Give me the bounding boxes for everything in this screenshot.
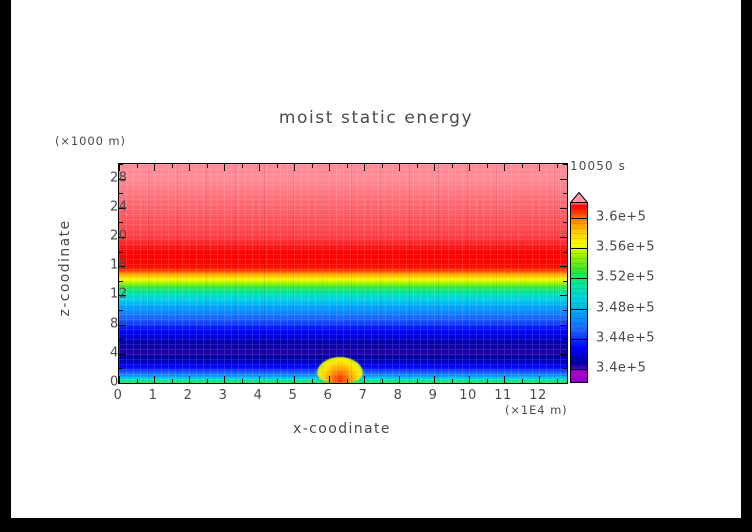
x-tick-major — [539, 376, 540, 383]
x-tick-minor-top — [137, 164, 138, 168]
x-tick-label: 0 — [114, 388, 123, 403]
x-tick-label: 5 — [289, 388, 298, 403]
x-tick-label: 8 — [394, 388, 403, 403]
x-tick-label: 10 — [459, 388, 477, 403]
x-tick-minor — [207, 379, 208, 383]
x-tick-minor — [312, 379, 313, 383]
y-tick-minor-right — [563, 164, 567, 165]
y-tick-minor-right — [563, 281, 567, 282]
x-axis-title: x-coodinate — [118, 421, 566, 437]
x-tick-label: 6 — [324, 388, 333, 403]
y-tick-major — [119, 354, 126, 355]
x-tick-minor-top — [452, 164, 453, 168]
colorbar-gradient-box — [570, 202, 588, 383]
colorbar-tick-label: 3.48e+5 — [596, 300, 655, 315]
x-tick-minor — [487, 379, 488, 383]
x-tick-minor-top — [522, 164, 523, 168]
y-tick-minor-right — [563, 252, 567, 253]
x-tick-major — [399, 376, 400, 383]
y-tick-major-right — [560, 179, 567, 180]
y-tick-minor — [119, 310, 123, 311]
y-axis-unit-label: (×1000 m) — [55, 134, 126, 148]
x-tick-minor — [347, 379, 348, 383]
colorbar-tick-label: 3.4e+5 — [596, 360, 646, 375]
x-tick-minor — [452, 379, 453, 383]
figure-outer-frame: moist static energy (×1000 m) (×1E4 m) 1… — [0, 0, 752, 532]
contour-plot-area[interactable] — [118, 163, 568, 384]
x-tick-minor-top — [347, 164, 348, 168]
x-tick-major-top — [294, 164, 295, 171]
x-tick-major-top — [224, 164, 225, 171]
x-tick-minor — [137, 379, 138, 383]
y-tick-major-right — [560, 295, 567, 296]
moist-static-energy-field — [119, 164, 567, 383]
x-tick-minor-top — [312, 164, 313, 168]
y-tick-major — [119, 383, 126, 384]
y-axis-title: z-coodinate — [57, 168, 73, 368]
x-tick-minor-top — [557, 164, 558, 168]
x-tick-major-top — [329, 164, 330, 171]
time-annotation: 10050 s — [570, 159, 626, 173]
y-tick-major-right — [560, 354, 567, 355]
x-tick-major — [504, 376, 505, 383]
x-tick-minor — [242, 379, 243, 383]
x-tick-label: 9 — [429, 388, 438, 403]
figure-canvas: moist static energy (×1000 m) (×1E4 m) 1… — [11, 0, 741, 518]
colorbar-tick-separator — [571, 369, 588, 370]
x-tick-major — [294, 376, 295, 383]
y-tick-major-right — [560, 325, 567, 326]
x-axis-unit-label: (×1E4 m) — [505, 403, 568, 417]
x-tick-minor-top — [382, 164, 383, 168]
x-tick-major — [259, 376, 260, 383]
x-tick-major-top — [469, 164, 470, 171]
x-tick-label: 3 — [219, 388, 228, 403]
colorbar-tick-label: 3.44e+5 — [596, 330, 655, 345]
colorbar-tick-separator — [571, 339, 588, 340]
x-tick-minor-top — [207, 164, 208, 168]
y-tick-minor — [119, 339, 123, 340]
x-tick-label: 12 — [529, 388, 547, 403]
colorbar-tick-separator — [571, 248, 588, 249]
y-tick-minor — [119, 193, 123, 194]
x-tick-major-top — [504, 164, 505, 171]
x-tick-minor — [417, 379, 418, 383]
x-tick-label: 1 — [149, 388, 158, 403]
y-tick-minor — [119, 164, 123, 165]
y-tick-label: 0 — [110, 375, 119, 390]
y-tick-label: 4 — [110, 345, 119, 360]
x-tick-major-top — [259, 164, 260, 171]
x-tick-major-top — [189, 164, 190, 171]
x-tick-minor — [522, 379, 523, 383]
x-tick-label: 7 — [359, 388, 368, 403]
x-tick-major — [364, 376, 365, 383]
y-tick-minor-right — [563, 339, 567, 340]
y-tick-major-right — [560, 383, 567, 384]
x-tick-label: 2 — [184, 388, 193, 403]
colorbar-texture-overlay — [571, 203, 587, 382]
x-tick-minor-top — [487, 164, 488, 168]
x-tick-minor-top — [242, 164, 243, 168]
y-tick-label: 24 — [110, 199, 128, 214]
x-tick-major-top — [154, 164, 155, 171]
colorbar-tick-separator — [571, 218, 588, 219]
x-tick-major — [154, 376, 155, 383]
y-tick-major-right — [560, 208, 567, 209]
x-tick-minor-top — [172, 164, 173, 168]
x-tick-minor — [172, 379, 173, 383]
colorbar-tick-separator — [571, 278, 588, 279]
y-tick-label: 8 — [110, 316, 119, 331]
y-tick-minor-right — [563, 368, 567, 369]
y-tick-major-right — [560, 237, 567, 238]
x-tick-major-top — [434, 164, 435, 171]
y-tick-minor — [119, 368, 123, 369]
y-tick-minor — [119, 281, 123, 282]
colorbar-tick-label: 3.6e+5 — [596, 210, 646, 225]
x-tick-minor — [557, 379, 558, 383]
y-tick-major-right — [560, 266, 567, 267]
y-tick-label: 16 — [110, 258, 128, 273]
x-tick-major — [434, 376, 435, 383]
page-title: moist static energy — [11, 108, 741, 128]
x-tick-major — [119, 376, 120, 383]
y-tick-minor-right — [563, 193, 567, 194]
y-tick-minor — [119, 252, 123, 253]
x-tick-major — [224, 376, 225, 383]
x-tick-minor-top — [277, 164, 278, 168]
y-tick-label: 28 — [110, 170, 128, 185]
y-tick-minor-right — [563, 222, 567, 223]
thermal-plume-feature — [317, 357, 363, 383]
y-tick-minor-right — [563, 310, 567, 311]
x-tick-major — [329, 376, 330, 383]
x-tick-minor — [382, 379, 383, 383]
x-tick-major-top — [539, 164, 540, 171]
y-tick-minor — [119, 222, 123, 223]
y-tick-label: 12 — [110, 287, 128, 302]
x-tick-major-top — [399, 164, 400, 171]
colorbar-tick-label: 3.52e+5 — [596, 270, 655, 285]
y-tick-major — [119, 325, 126, 326]
colorbar-tick-separator — [571, 309, 588, 310]
x-tick-major — [469, 376, 470, 383]
y-tick-label: 20 — [110, 229, 128, 244]
x-tick-minor — [277, 379, 278, 383]
colorbar-tick-label: 3.56e+5 — [596, 240, 655, 255]
x-tick-label: 4 — [254, 388, 263, 403]
x-tick-label: 11 — [494, 388, 512, 403]
x-tick-major — [189, 376, 190, 383]
x-tick-minor-top — [417, 164, 418, 168]
x-tick-major-top — [364, 164, 365, 171]
